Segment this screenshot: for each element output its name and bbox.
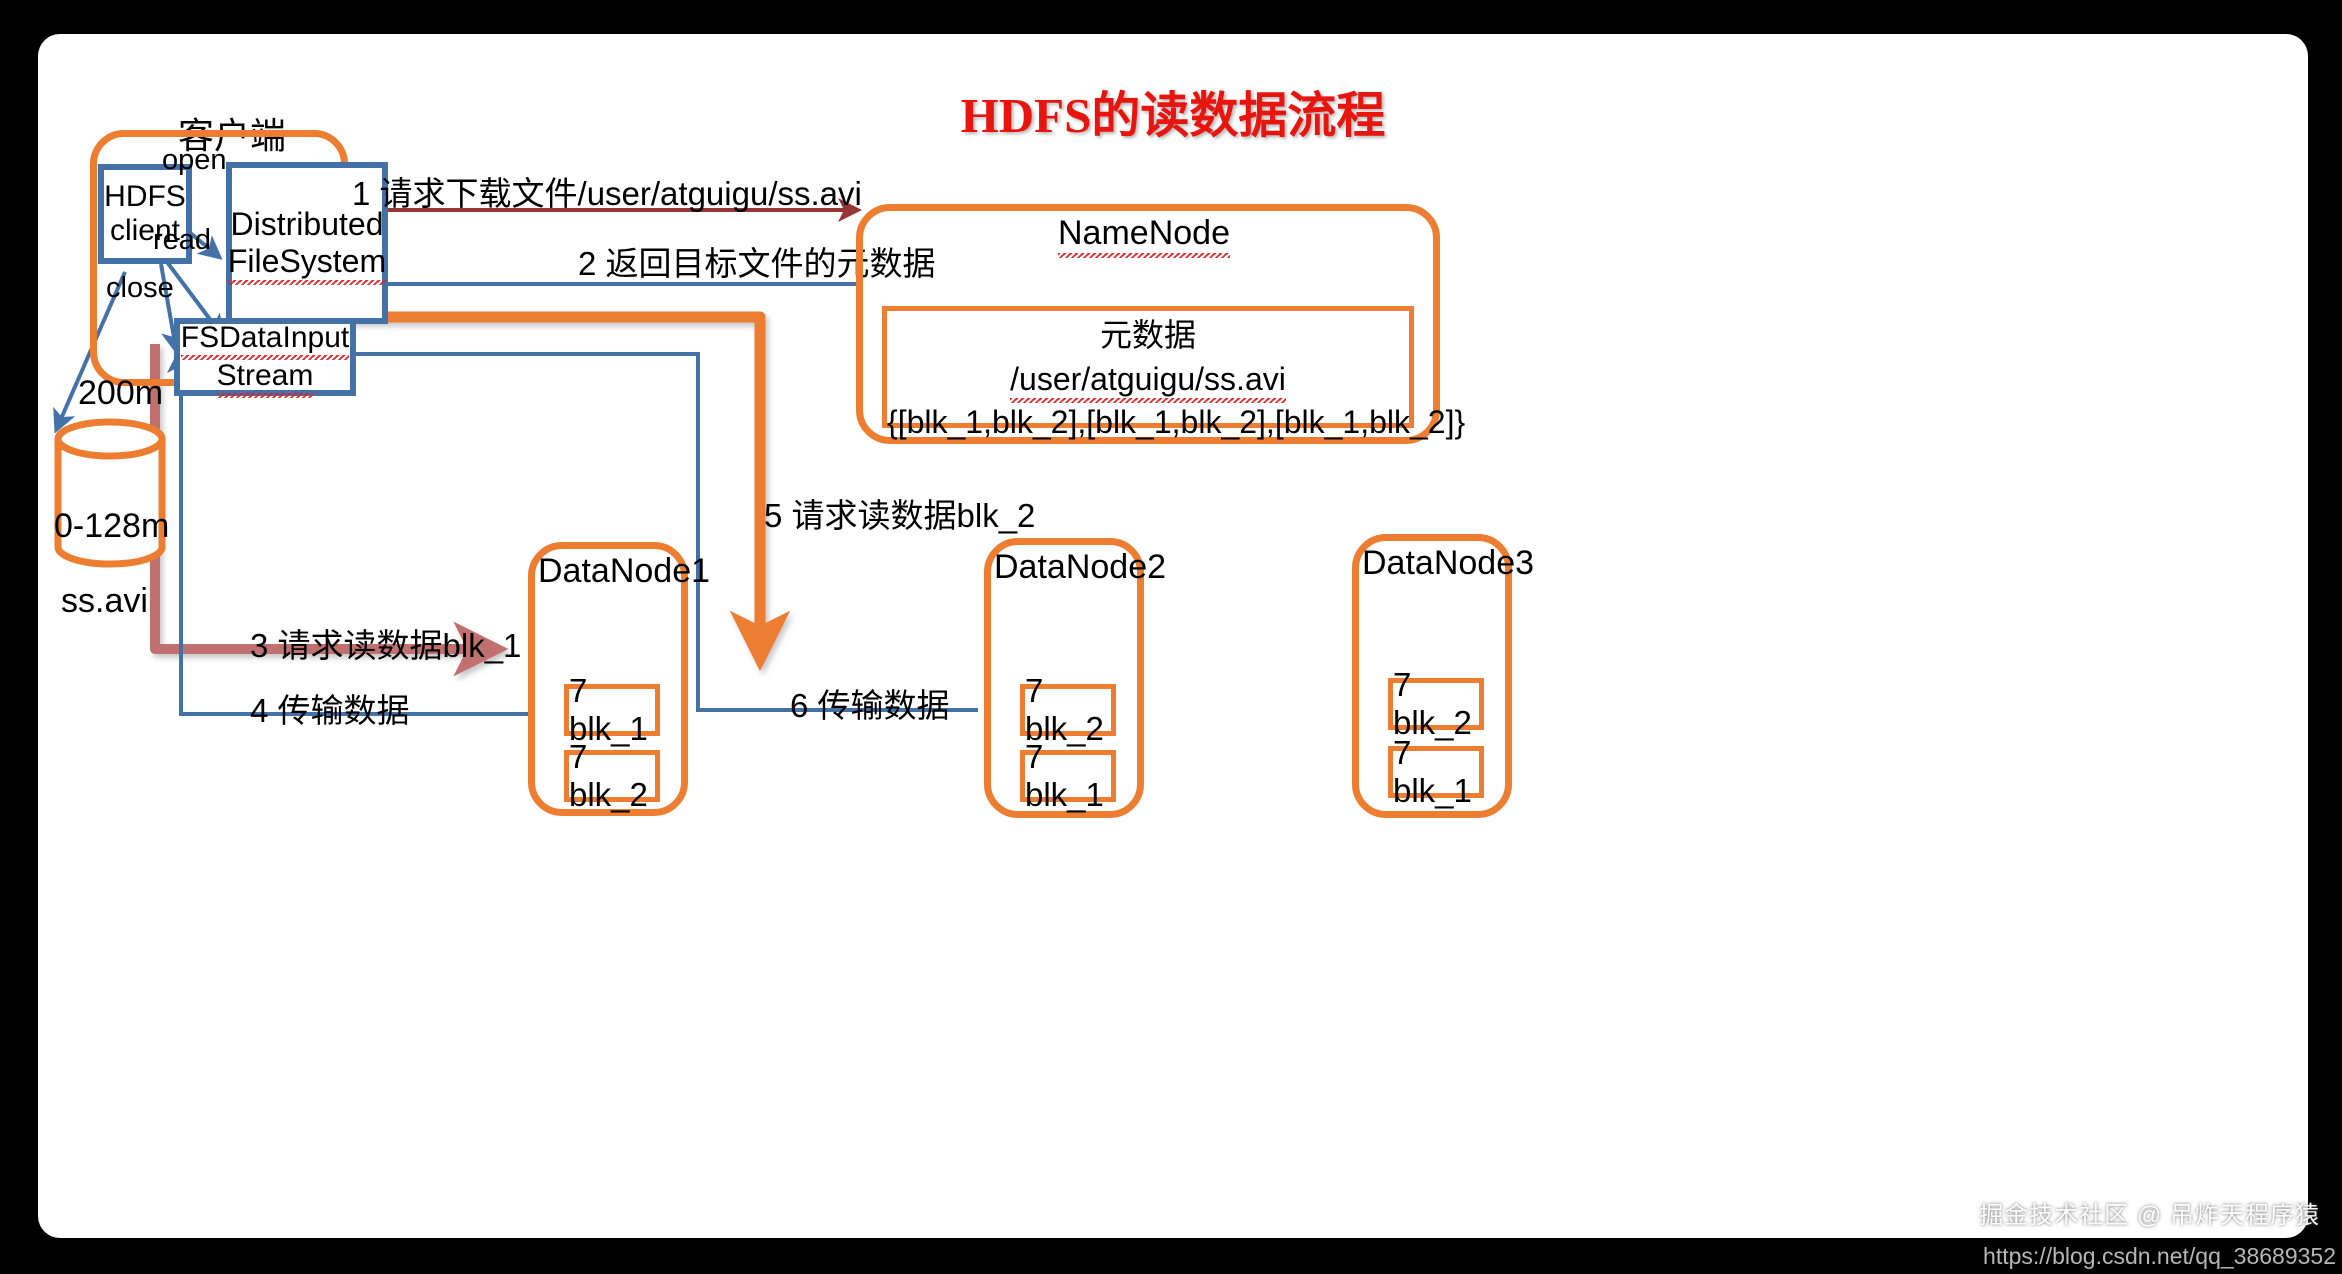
flow-label-3: 3 请求读数据blk_1 bbox=[250, 619, 521, 667]
fsdatainputstream-box[interactable]: FSDataInput Stream bbox=[174, 318, 356, 396]
flow-label-1: 1 请求下载文件/user/atguigu/ss.avi bbox=[352, 167, 862, 215]
flow-label-4: 4 传输数据 bbox=[250, 684, 410, 732]
metadata-path: /user/atguigu/ss.avi bbox=[887, 361, 1409, 398]
datanode-3-title: DataNode3 bbox=[1362, 544, 1534, 583]
disk-cylinder-top bbox=[58, 422, 162, 456]
metadata-blocks: {[blk_1,blk_2],[blk_1,blk_2],[blk_1,blk_… bbox=[887, 404, 1409, 441]
fsdis-line2: Stream bbox=[217, 359, 314, 393]
hdfs-client-line1: HDFS bbox=[104, 180, 186, 214]
disk-file-label: ss.avi bbox=[61, 582, 148, 621]
diagram-canvas: HDFS的读数据流程 bbox=[38, 34, 2308, 1238]
watermark-url: https://blog.csdn.net/qq_38689352 bbox=[1983, 1243, 2336, 1270]
disk-block-label: 0-128m bbox=[54, 507, 169, 546]
datanode-1-block-1: 7 blk_2 bbox=[564, 750, 660, 802]
datanode-1-title: DataNode1 bbox=[538, 552, 710, 591]
namenode-metadata-box: 元数据 /user/atguigu/ss.avi {[blk_1,blk_2],… bbox=[882, 306, 1414, 428]
namenode-title: NameNode bbox=[1058, 214, 1230, 253]
datanode-1-block-0: 7 blk_1 bbox=[564, 684, 660, 736]
flow-label-5: 5 请求读数据blk_2 bbox=[764, 489, 1035, 537]
fsdis-line1: FSDataInput bbox=[181, 321, 349, 355]
diagram-root: HDFS的读数据流程 bbox=[0, 0, 2342, 1274]
disk-split-line bbox=[60, 496, 164, 499]
edge-close-label: close bbox=[106, 272, 174, 305]
edge-open-label: open bbox=[162, 144, 227, 177]
dfs-line2: FileSystem bbox=[228, 243, 386, 280]
edge-read-label: read bbox=[153, 224, 211, 257]
flow-label-6: 6 传输数据 bbox=[790, 679, 950, 727]
datanode-2-block-1: 7 blk_1 bbox=[1020, 750, 1116, 802]
datanode-3-block-1: 7 blk_1 bbox=[1388, 746, 1484, 798]
datanode-3-block-0: 7 blk_2 bbox=[1388, 678, 1484, 730]
metadata-title: 元数据 bbox=[887, 317, 1409, 354]
datanode-2-title: DataNode2 bbox=[994, 548, 1166, 587]
page-title: HDFS的读数据流程 bbox=[38, 76, 2308, 147]
datanode-2-block-0: 7 blk_2 bbox=[1020, 684, 1116, 736]
disk-size-label: 200m bbox=[78, 374, 163, 413]
